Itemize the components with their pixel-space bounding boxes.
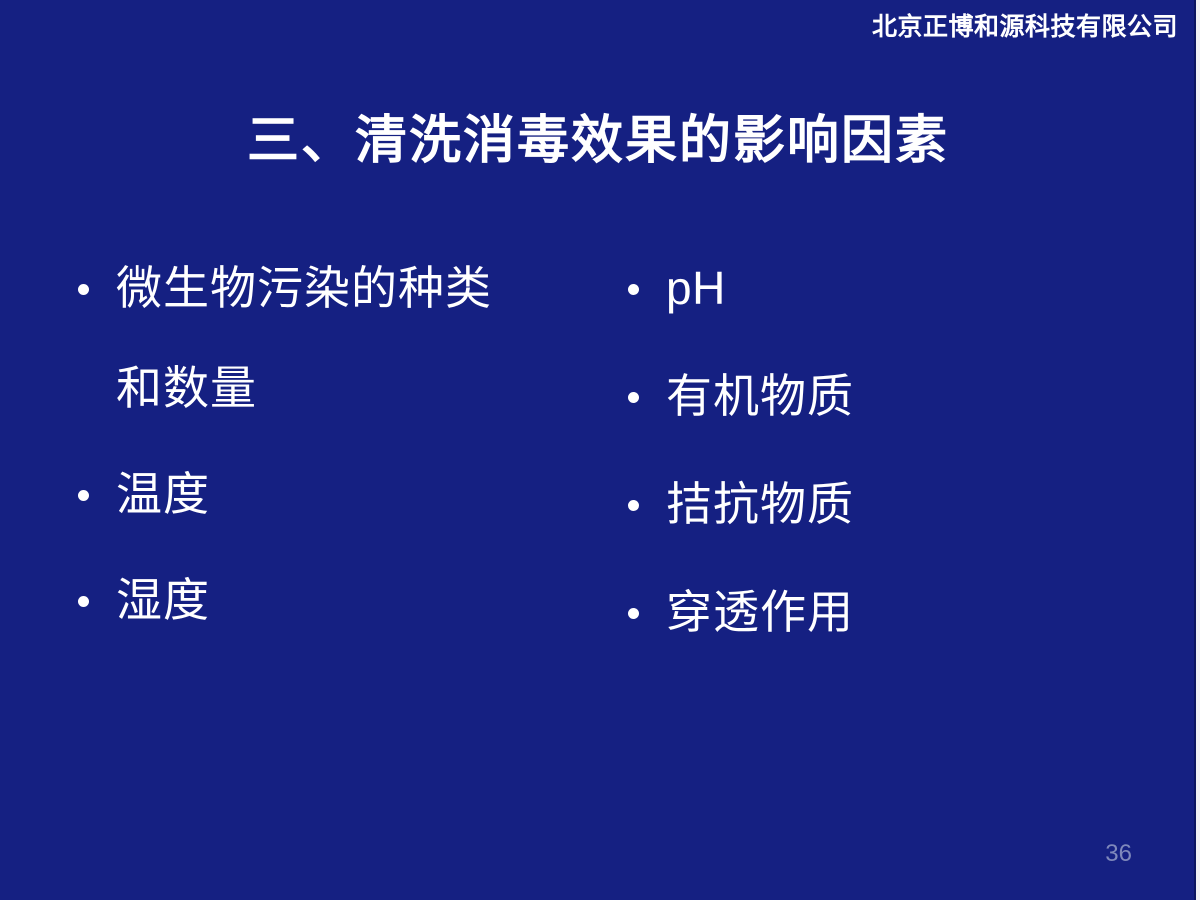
list-item: 湿度: [62, 550, 582, 650]
company-name-header: 北京正博和源科技有限公司: [872, 12, 1178, 42]
bullet-column-left: 微生物污染的种类 和数量 温度 湿度: [62, 238, 582, 656]
bullet-text: 微生物污染的种类 和数量: [116, 238, 582, 438]
bullet-column-right: pH 有机物质 拮抗物质 穿透作用: [612, 238, 1052, 670]
bullet-dot-icon: [612, 562, 666, 662]
bullet-dot-icon: [62, 238, 116, 338]
bullet-dot-icon: [612, 238, 666, 338]
slide-right-edge: [1196, 0, 1200, 900]
list-item: 拮抗物质: [612, 454, 1052, 554]
slide-body: 微生物污染的种类 和数量 温度 湿度 pH 有机物质 拮: [0, 238, 1196, 678]
list-item: 有机物质: [612, 346, 1052, 446]
list-item: 温度: [62, 444, 582, 544]
slide-page-number: 36: [1105, 840, 1132, 868]
bullet-text: 有机物质: [666, 346, 1052, 446]
slide-canvas: 北京正博和源科技有限公司 三、清洗消毒效果的影响因素 微生物污染的种类 和数量 …: [0, 0, 1200, 900]
bullet-dot-icon: [612, 454, 666, 554]
bullet-text: pH: [666, 238, 1052, 338]
list-item: 微生物污染的种类 和数量: [62, 238, 582, 438]
bullet-dot-icon: [62, 444, 116, 544]
bullet-dot-icon: [612, 346, 666, 446]
list-item: 穿透作用: [612, 562, 1052, 662]
bullet-text: 拮抗物质: [666, 454, 1052, 554]
page-title: 三、清洗消毒效果的影响因素: [0, 113, 1196, 170]
bullet-text: 温度: [116, 444, 582, 544]
list-item: pH: [612, 238, 1052, 338]
bullet-text: 穿透作用: [666, 562, 1052, 662]
bullet-dot-icon: [62, 550, 116, 650]
bullet-text: 湿度: [116, 550, 582, 650]
